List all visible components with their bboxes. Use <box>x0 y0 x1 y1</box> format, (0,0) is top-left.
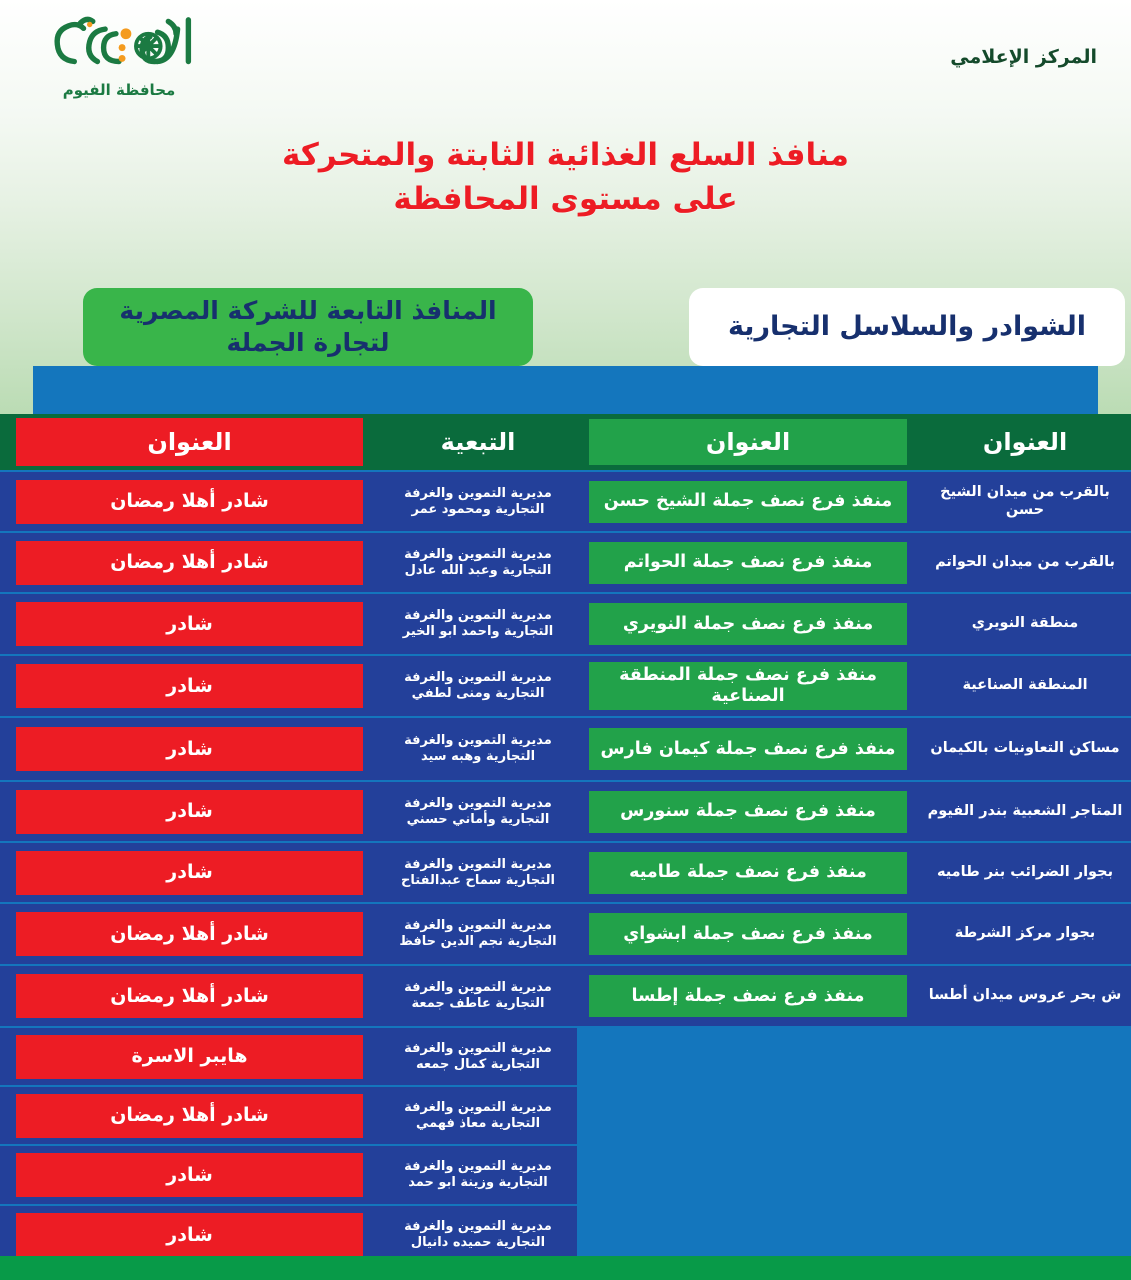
cell-address: مساكن التعاونيات بالكيمان <box>919 716 1131 780</box>
cell-name: شادر <box>0 1144 379 1204</box>
cell-outlet-chip: منفذ فرع نصف جملة إطسا <box>589 975 907 1017</box>
cell-name: شادر أهلا رمضان <box>0 1085 379 1144</box>
cell-name: شادر أهلا رمضان <box>0 902 379 964</box>
cell-name: شادر أهلا رمضان <box>0 470 379 531</box>
cell-name: شادر <box>0 1204 379 1264</box>
cell-outlet-chip: منفذ فرع نصف جملة ابشواي <box>589 913 907 955</box>
cell-name: شادر <box>0 780 379 841</box>
cell-department: مديرية التموين والغرفة التجارية نجم الدي… <box>379 902 577 964</box>
cell-outlet: منفذ فرع نصف جملة طاميه <box>577 841 919 902</box>
table-row: مديرية التموين والغرفة التجارية كمال جمع… <box>0 1026 1131 1085</box>
bottom-green-band <box>0 1256 1131 1280</box>
outlets-table: العنوان العنوان التبعية العنوان بالقرب م… <box>0 414 1131 1264</box>
cell-name: شادر <box>0 716 379 780</box>
table-row: بجوار الضرائب بنر طاميه منفذ فرع نصف جمل… <box>0 841 1131 902</box>
cell-name-chip: شادر أهلا رمضان <box>16 1094 363 1138</box>
cell-name-chip: شادر أهلا رمضان <box>16 912 363 956</box>
cell-department: مديرية التموين والغرفة التجارية ومنى لطف… <box>379 654 577 716</box>
table-row: المتاجر الشعبية بندر الفيوم منفذ فرع نصف… <box>0 780 1131 841</box>
column-header-label: العنوان <box>983 428 1067 456</box>
cell-outlet <box>577 1085 919 1144</box>
cell-outlet-chip: منفذ فرع نصف جملة سنورس <box>589 791 907 833</box>
table-row: ش بحر عروس ميدان أطسا منفذ فرع نصف جملة … <box>0 964 1131 1026</box>
cell-address <box>919 1144 1131 1204</box>
cell-outlet-chip <box>589 1153 907 1195</box>
cell-name-chip: شادر أهلا رمضان <box>16 974 363 1018</box>
cell-name-chip: هايبر الاسرة <box>16 1035 363 1079</box>
column-header-label: التبعية <box>441 428 516 456</box>
cell-outlet <box>577 1026 919 1085</box>
cell-outlet-chip <box>589 1035 907 1077</box>
table-row: منطقة النويري منفذ فرع نصف جملة النويري … <box>0 592 1131 654</box>
cell-department: مديرية التموين والغرفة التجارية واحمد اب… <box>379 592 577 654</box>
logo-subtitle: محافظة الفيوم <box>63 81 176 99</box>
cell-department: مديرية التموين والغرفة التجارية وأماني ح… <box>379 780 577 841</box>
cell-name-chip: شادر <box>16 790 363 834</box>
cell-outlet: منفذ فرع نصف جملة إطسا <box>577 964 919 1026</box>
cell-address <box>919 1204 1131 1264</box>
cell-department: مديرية التموين والغرفة التجارية ومحمود ع… <box>379 470 577 531</box>
cell-outlet: منفذ فرع نصف جملة كيمان فارس <box>577 716 919 780</box>
media-center-label: المركز الإعلامي <box>950 46 1097 68</box>
cell-outlet-chip: منفذ فرع نصف جملة المنطقة الصناعية <box>589 662 907 710</box>
cell-address <box>919 1085 1131 1144</box>
cell-name-chip: شادر <box>16 727 363 771</box>
table-header-row: العنوان العنوان التبعية العنوان <box>0 414 1131 470</box>
column-header-department: التبعية <box>379 414 577 470</box>
cell-address: بالقرب من ميدان الشيخ حسن <box>919 470 1131 531</box>
column-header-label: العنوان <box>147 428 231 456</box>
table-row: المنطقة الصناعية منفذ فرع نصف جملة المنط… <box>0 654 1131 716</box>
cell-outlet-chip: منفذ فرع نصف جملة الشيخ حسن <box>589 481 907 523</box>
page-title-line1: منافذ السلع الغذائية الثابتة والمتحركة <box>0 133 1131 177</box>
cell-name-chip: شادر أهلا رمضان <box>16 541 363 585</box>
cell-outlet-chip <box>589 1094 907 1136</box>
cell-name-chip: شادر <box>16 851 363 895</box>
cell-address: بجوار مركز الشرطة <box>919 902 1131 964</box>
table-row: بجوار مركز الشرطة منفذ فرع نصف جملة ابشو… <box>0 902 1131 964</box>
table-row: بالقرب من ميدان الشيخ حسن منفذ فرع نصف ج… <box>0 470 1131 531</box>
column-header-address-wholesale: العنوان <box>919 414 1131 470</box>
section-header-chains: الشوادر والسلاسل التجارية <box>689 288 1125 366</box>
cell-department: مديرية التموين والغرفة التجارية عاطف جمع… <box>379 964 577 1026</box>
section-header-wholesale: المنافذ التابعة للشركة المصرية لتجارة ال… <box>83 288 533 366</box>
table-row: مساكن التعاونيات بالكيمان منفذ فرع نصف ج… <box>0 716 1131 780</box>
logo-mark <box>31 6 207 80</box>
cell-name-chip: شادر <box>16 1213 363 1257</box>
cell-name: شادر <box>0 841 379 902</box>
cell-department: مديرية التموين والغرفة التجارية كمال جمع… <box>379 1026 577 1085</box>
column-header-name: العنوان <box>0 414 379 470</box>
cell-name: شادر أهلا رمضان <box>0 531 379 592</box>
table-row: مديرية التموين والغرفة التجارية معاذ فهم… <box>0 1085 1131 1144</box>
cell-address <box>919 1026 1131 1085</box>
page-title: منافذ السلع الغذائية الثابتة والمتحركة ع… <box>0 133 1131 221</box>
cell-outlet <box>577 1204 919 1264</box>
cell-name: شادر <box>0 592 379 654</box>
cell-outlet <box>577 1144 919 1204</box>
table-row: مديرية التموين والغرفة التجارية حميده دا… <box>0 1204 1131 1264</box>
column-header-label: العنوان <box>706 428 790 456</box>
cell-name-chip: شادر <box>16 602 363 646</box>
cell-outlet: منفذ فرع نصف جملة الشيخ حسن <box>577 470 919 531</box>
cell-outlet: منفذ فرع نصف جملة الحواتم <box>577 531 919 592</box>
cell-department: مديرية التموين والغرفة التجارية سماح عبد… <box>379 841 577 902</box>
cell-address: منطقة النويري <box>919 592 1131 654</box>
cell-outlet-chip <box>589 1213 907 1255</box>
cell-outlet: منفذ فرع نصف جملة سنورس <box>577 780 919 841</box>
cell-address: المنطقة الصناعية <box>919 654 1131 716</box>
cell-name: شادر أهلا رمضان <box>0 964 379 1026</box>
cell-department: مديرية التموين والغرفة التجارية وزينة اب… <box>379 1144 577 1204</box>
fayoum-governorate-logo: محافظة الفيوم <box>24 6 214 111</box>
cell-outlet: منفذ فرع نصف جملة ابشواي <box>577 902 919 964</box>
cell-department: مديرية التموين والغرفة التجارية حميده دا… <box>379 1204 577 1264</box>
column-header-outlet: العنوان <box>577 414 919 470</box>
table-row: مديرية التموين والغرفة التجارية وزينة اب… <box>0 1144 1131 1204</box>
cell-department: مديرية التموين والغرفة التجارية معاذ فهم… <box>379 1085 577 1144</box>
cell-outlet: منفذ فرع نصف جملة المنطقة الصناعية <box>577 654 919 716</box>
cell-outlet-chip: منفذ فرع نصف جملة كيمان فارس <box>589 728 907 770</box>
cell-address: ش بحر عروس ميدان أطسا <box>919 964 1131 1026</box>
cell-address: المتاجر الشعبية بندر الفيوم <box>919 780 1131 841</box>
cell-department: مديرية التموين والغرفة التجارية وعبد الل… <box>379 531 577 592</box>
cell-name-chip: شادر <box>16 1153 363 1197</box>
cell-name: هايبر الاسرة <box>0 1026 379 1085</box>
cell-outlet-chip: منفذ فرع نصف جملة النويري <box>589 603 907 645</box>
cell-outlet-chip: منفذ فرع نصف جملة طاميه <box>589 852 907 894</box>
cell-address: بجوار الضرائب بنر طاميه <box>919 841 1131 902</box>
table-row: بالقرب من ميدان الحواتم منفذ فرع نصف جمل… <box>0 531 1131 592</box>
cell-name-chip: شادر أهلا رمضان <box>16 480 363 524</box>
cell-address: بالقرب من ميدان الحواتم <box>919 531 1131 592</box>
cell-name-chip: شادر <box>16 664 363 708</box>
cell-department: مديرية التموين والغرفة التجارية وهبه سيد <box>379 716 577 780</box>
cell-outlet: منفذ فرع نصف جملة النويري <box>577 592 919 654</box>
cell-outlet-chip: منفذ فرع نصف جملة الحواتم <box>589 542 907 584</box>
cell-name: شادر <box>0 654 379 716</box>
page-title-line2: على مستوى المحافظة <box>0 177 1131 221</box>
